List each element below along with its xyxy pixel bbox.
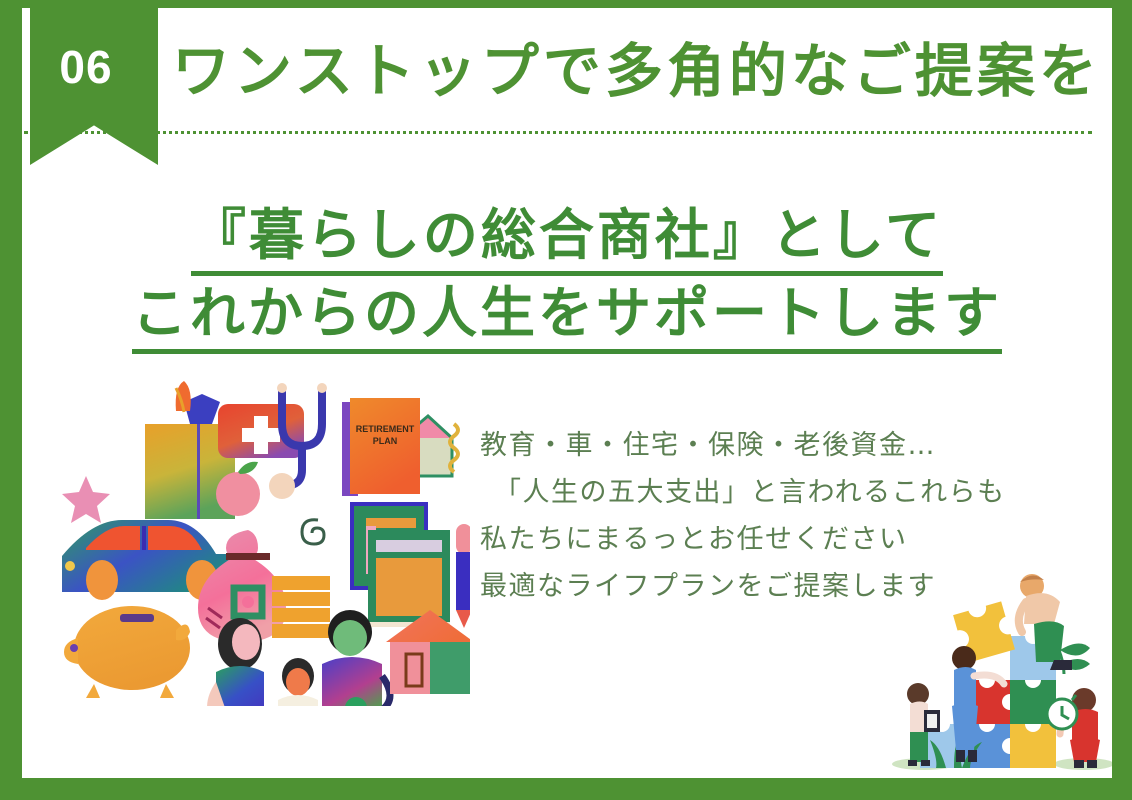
headline-line-2-text: これからの人生をサポートします [132,281,1002,354]
notebooks-icon [350,502,450,627]
retirement-plan-book-icon: RETIREMENT PLAN [342,398,420,496]
headline-line-1: 『暮らしの総合商社』として [22,196,1112,274]
body-line-1: 教育・車・住宅・保険・老後資金… [480,422,1080,469]
book-label-line-2: PLAN [373,436,398,446]
pen-icon [456,524,470,628]
slide-card: 06 ワンストップで多角的なご提案を 『暮らしの総合商社』として これからの人生… [22,8,1112,778]
body-line-3: 私たちにまるっとお任せください [480,516,1080,563]
spiral-icon [302,520,324,544]
headline-line-2: これからの人生をサポートします [22,274,1112,352]
slide-canvas: 06 ワンストップで多角的なご提案を 『暮らしの総合商社』として これからの人生… [0,0,1132,800]
star-icon [62,476,110,523]
piggy-bank-icon [64,606,190,698]
life-expenses-illustration: RETIREMENT PLAN [50,376,470,706]
headline-block: 『暮らしの総合商社』として これからの人生をサポートします [22,196,1112,352]
clock-icon [1047,695,1077,729]
section-number-label: 06 [22,40,150,94]
page-title: ワンストップで多角的なご提案を [172,36,1102,106]
teamwork-puzzle-illustration [884,564,1112,778]
slide-header: 06 ワンストップで多角的なご提案を [22,8,1112,168]
headline-line-1-text: 『暮らしの総合商社』として [191,203,943,276]
body-line-2: 「人生の五大支出」と言われるこれらも [480,469,1080,516]
medical-kit-icon [218,404,304,458]
book-label-line-1: RETIREMENT [356,424,415,434]
squiggle-icon [450,424,458,472]
header-divider [24,131,1092,134]
